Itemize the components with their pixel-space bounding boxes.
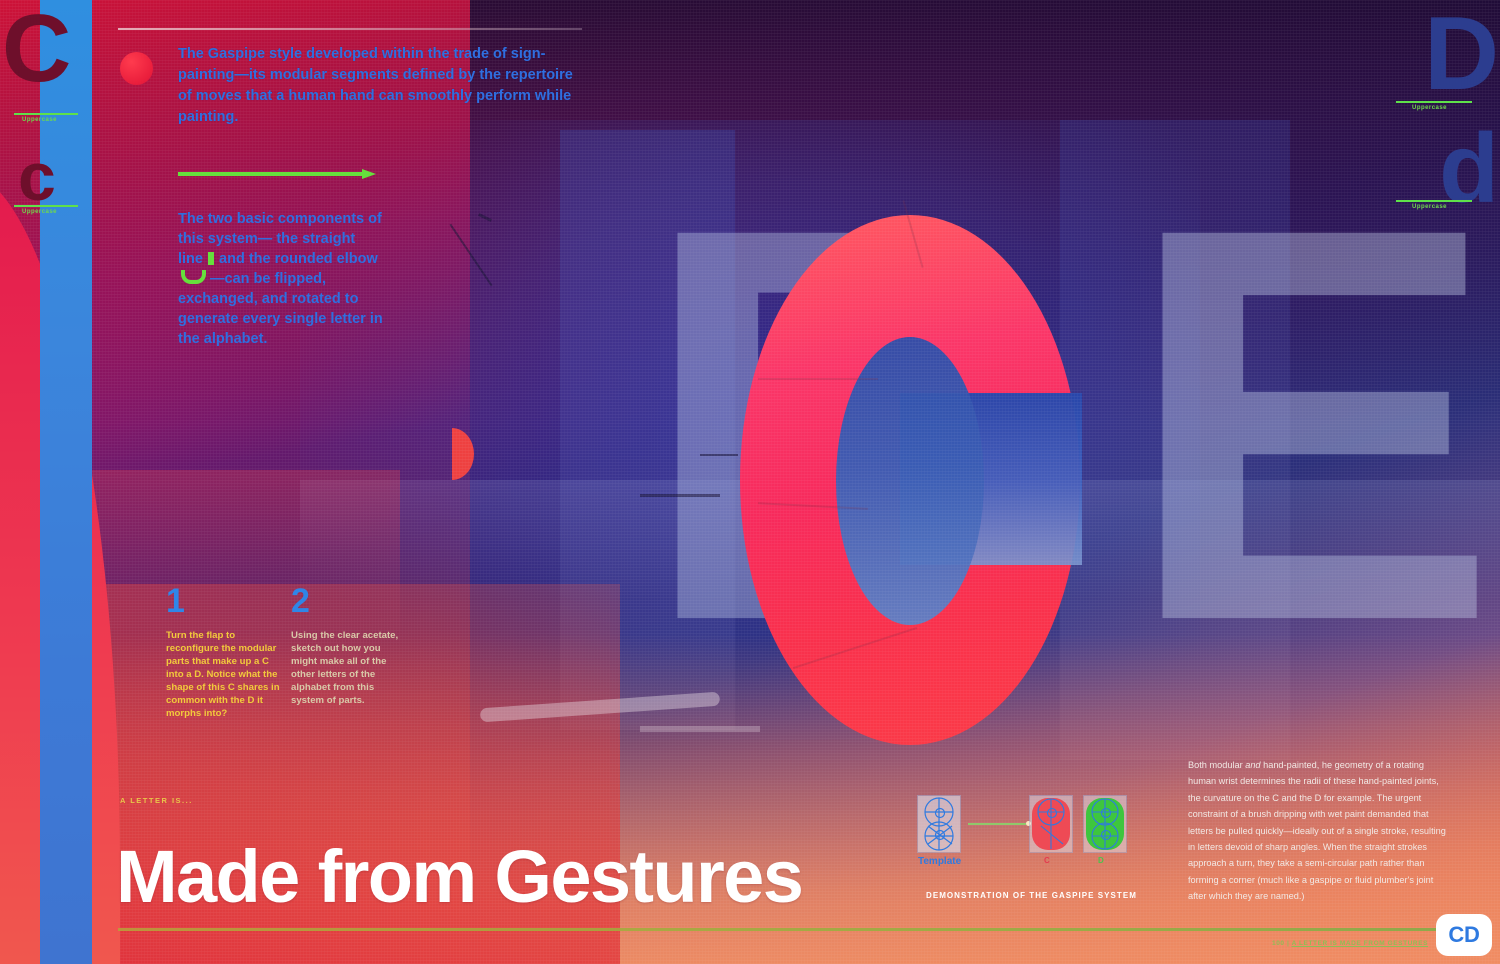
body-copy-column: Both modular and hand-painted, he geomet… [1188, 757, 1446, 904]
publisher-badge[interactable]: CD [1436, 914, 1492, 956]
c-diagram-icon [1030, 796, 1072, 852]
section-kicker: A LETTER IS... [120, 796, 193, 805]
demo-label-template: Template [918, 856, 961, 867]
edge-tab-glyph-uppercase-d: D [1424, 12, 1496, 97]
demo-card-template [918, 796, 960, 852]
components-text-part2: and the rounded elbow [219, 251, 378, 267]
edge-tab-rule [1396, 101, 1472, 103]
components-paragraph: The two basic components of this system—… [178, 209, 383, 349]
footer-folio-line: 100 | A LETTER IS MADE FROM GESTURES [1272, 940, 1428, 947]
edge-tab-caption: Uppercase [22, 209, 57, 215]
rounded-elbow-glyph-icon [181, 270, 206, 284]
demo-label-d: D [1098, 856, 1104, 865]
edge-tab-rule [14, 205, 78, 207]
demo-card-d [1084, 796, 1126, 852]
top-hairline-rule [118, 28, 582, 30]
step-number-1: 1 [166, 584, 185, 618]
magazine-spread: B E C Uppercase c Uppercase D Uppercase … [0, 0, 1500, 964]
body-copy-lead: Both modular [1188, 760, 1245, 770]
footer-section: A LETTER IS MADE FROM GESTURES [1292, 940, 1428, 947]
edge-tab-caption: Uppercase [1412, 204, 1447, 210]
footer-folio: 100 [1272, 940, 1285, 947]
body-copy-emphasis: and [1245, 760, 1260, 770]
arrow-head [362, 169, 376, 179]
edge-tab-caption: Uppercase [22, 117, 57, 123]
green-arrow-icon [178, 169, 376, 179]
gaspipe-demonstration: Template C D [918, 796, 1128, 906]
page-title: Made from Gestures [116, 840, 802, 914]
step-text-2: Using the clear acetate, sketch out how … [291, 630, 409, 708]
red-dot-marker [120, 52, 153, 85]
edge-tab-rule [14, 113, 78, 115]
title-underline-rule [118, 928, 1448, 931]
edge-tab-caption: Uppercase [1412, 105, 1447, 111]
components-text-part3: —can be flipped, exchanged, and rotated … [178, 271, 383, 347]
demo-card-c [1030, 796, 1072, 852]
lede-paragraph: The Gaspipe style developed within the t… [178, 44, 588, 129]
body-copy-rest: hand-painted, he geometry of a rotating … [1188, 760, 1446, 901]
publisher-badge-label: CD [1448, 922, 1479, 948]
demo-label-c: C [1044, 856, 1050, 865]
straight-line-glyph-icon [208, 252, 214, 265]
demonstration-caption: DEMONSTRATION OF THE GASPIPE SYSTEM [926, 891, 1137, 900]
step-number-2: 2 [291, 584, 310, 618]
demo-connector-line [968, 823, 1026, 825]
footer-divider: | [1285, 940, 1292, 947]
edge-tab-rule [1396, 200, 1472, 202]
template-diagram-icon [918, 796, 960, 852]
d-diagram-icon [1084, 796, 1126, 852]
step-text-1: Turn the flap to reconfigure the modular… [166, 630, 284, 721]
arrow-shaft [178, 172, 362, 176]
edge-tab-glyph-lowercase-c: c [18, 150, 54, 206]
edge-tab-glyph-uppercase-c: C [2, 10, 68, 89]
edge-tab-glyph-lowercase-d: d [1439, 128, 1496, 208]
